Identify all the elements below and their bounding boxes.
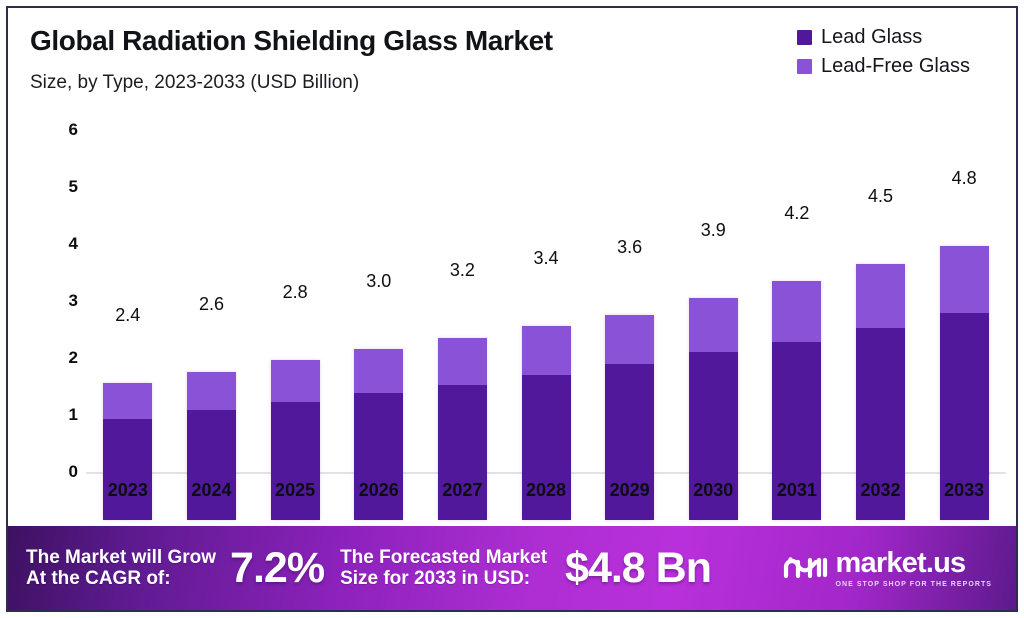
x-axis-tick-2028: 2028 bbox=[526, 480, 566, 501]
bar-segment-lead-glass[interactable] bbox=[187, 410, 236, 520]
bar-value-label-2024: 2.6 bbox=[199, 294, 224, 315]
bar-column-2023[interactable] bbox=[103, 56, 152, 520]
cagr-label: The Market will Grow At the CAGR of: bbox=[26, 547, 216, 590]
bar-column-2033[interactable] bbox=[940, 56, 989, 520]
bar-column-2030[interactable] bbox=[689, 56, 738, 520]
bar-group: 2.42.62.83.03.23.43.63.94.24.54.8 bbox=[86, 8, 1006, 520]
bar-segment-lead-free-glass[interactable] bbox=[187, 372, 236, 410]
cagr-label-line1: The Market will Grow bbox=[26, 547, 216, 568]
bar-column-2024[interactable] bbox=[187, 56, 236, 520]
bar-segment-lead-free-glass[interactable] bbox=[522, 326, 571, 374]
bar-column-2031[interactable] bbox=[772, 56, 821, 520]
bar-value-label-2025: 2.8 bbox=[283, 282, 308, 303]
bar-value-label-2023: 2.4 bbox=[115, 305, 140, 326]
chart-card: Global Radiation Shielding Glass Market … bbox=[6, 6, 1018, 612]
y-axis-tick-4: 4 bbox=[52, 234, 78, 254]
bar-segment-lead-free-glass[interactable] bbox=[772, 281, 821, 342]
footer-banner: The Market will Grow At the CAGR of: 7.2… bbox=[8, 526, 1016, 610]
x-axis-tick-2023: 2023 bbox=[108, 480, 148, 501]
bar-value-label-2026: 3.0 bbox=[366, 271, 391, 292]
x-axis-tick-2031: 2031 bbox=[777, 480, 817, 501]
y-axis-tick-1: 1 bbox=[52, 405, 78, 425]
bar-segment-lead-free-glass[interactable] bbox=[103, 383, 152, 418]
bar-value-label-2027: 3.2 bbox=[450, 260, 475, 281]
bar-segment-lead-free-glass[interactable] bbox=[689, 298, 738, 352]
x-axis-tick-2033: 2033 bbox=[944, 480, 984, 501]
x-axis-tick-2032: 2032 bbox=[861, 480, 901, 501]
bar-value-label-2030: 3.9 bbox=[701, 220, 726, 241]
market-us-logo-icon bbox=[782, 551, 828, 585]
y-axis-tick-2: 2 bbox=[52, 348, 78, 368]
forecast-label: The Forecasted Market Size for 2033 in U… bbox=[340, 547, 547, 590]
brand-logo[interactable]: market.us ONE STOP SHOP FOR THE REPORTS bbox=[782, 549, 1000, 588]
x-axis-tick-2024: 2024 bbox=[191, 480, 231, 501]
y-axis-tick-0: 0 bbox=[52, 462, 78, 482]
forecast-label-line1: The Forecasted Market bbox=[340, 547, 547, 568]
bar-column-2028[interactable] bbox=[522, 56, 571, 520]
brand-name: market.us bbox=[836, 549, 992, 578]
y-axis-tick-6: 6 bbox=[52, 120, 78, 140]
brand-text: market.us ONE STOP SHOP FOR THE REPORTS bbox=[836, 549, 992, 588]
bar-segment-lead-free-glass[interactable] bbox=[271, 360, 320, 402]
bar-segment-lead-free-glass[interactable] bbox=[438, 338, 487, 385]
bar-segment-lead-glass[interactable] bbox=[103, 419, 152, 520]
bar-segment-lead-glass[interactable] bbox=[354, 393, 403, 520]
bar-column-2029[interactable] bbox=[605, 56, 654, 520]
cagr-value: 7.2% bbox=[230, 544, 324, 593]
bar-value-label-2032: 4.5 bbox=[868, 186, 893, 207]
bar-column-2032[interactable] bbox=[856, 56, 905, 520]
bar-segment-lead-free-glass[interactable] bbox=[940, 246, 989, 313]
x-axis-tick-2027: 2027 bbox=[442, 480, 482, 501]
bar-value-label-2033: 4.8 bbox=[952, 168, 977, 189]
x-axis-tick-2029: 2029 bbox=[610, 480, 650, 501]
bar-segment-lead-free-glass[interactable] bbox=[856, 264, 905, 329]
bar-segment-lead-free-glass[interactable] bbox=[354, 349, 403, 393]
brand-tagline: ONE STOP SHOP FOR THE REPORTS bbox=[836, 581, 992, 588]
bar-column-2027[interactable] bbox=[438, 56, 487, 520]
forecast-label-line2: Size for 2033 in USD: bbox=[340, 568, 547, 589]
x-axis-tick-2026: 2026 bbox=[359, 480, 399, 501]
bar-stack bbox=[940, 246, 989, 520]
chart-plot-area: 2.42.62.83.03.23.43.63.94.24.54.8 012345… bbox=[8, 8, 1018, 520]
forecast-value: $4.8 Bn bbox=[565, 544, 711, 593]
bar-segment-lead-glass[interactable] bbox=[271, 402, 320, 520]
y-axis-tick-5: 5 bbox=[52, 177, 78, 197]
bar-segment-lead-free-glass[interactable] bbox=[605, 315, 654, 365]
cagr-label-line2: At the CAGR of: bbox=[26, 568, 216, 589]
bar-value-label-2029: 3.6 bbox=[617, 237, 642, 258]
bar-value-label-2031: 4.2 bbox=[784, 203, 809, 224]
x-axis-tick-2025: 2025 bbox=[275, 480, 315, 501]
x-axis-tick-2030: 2030 bbox=[693, 480, 733, 501]
y-axis-tick-3: 3 bbox=[52, 291, 78, 311]
bar-value-label-2028: 3.4 bbox=[533, 248, 558, 269]
